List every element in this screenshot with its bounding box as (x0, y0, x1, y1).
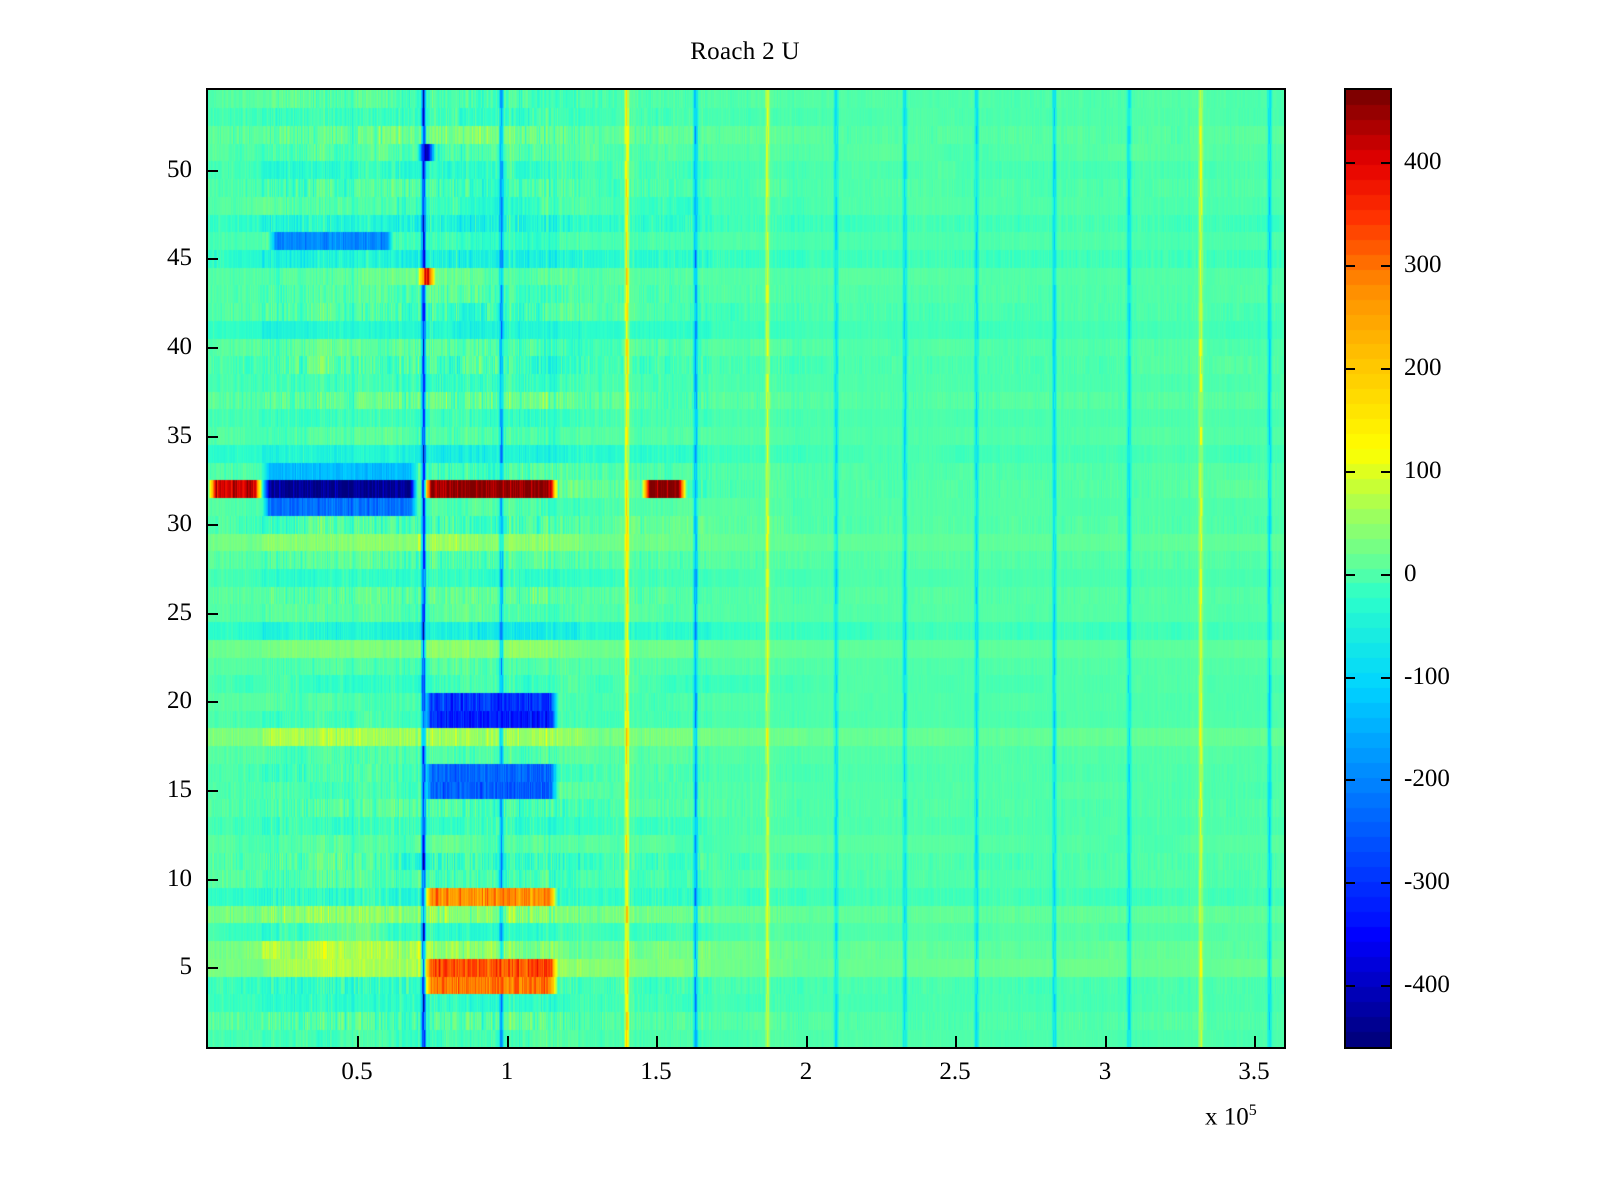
colorbar-tick-label: -300 (1404, 869, 1450, 894)
y-tick-label: 45 (130, 245, 192, 270)
x-exponent-mantissa: x 10 (1205, 1103, 1249, 1130)
colorbar-tick-mark-right (1381, 368, 1390, 370)
colorbar-tick-mark-left (1346, 985, 1355, 987)
colorbar-tick-label: -100 (1404, 664, 1450, 689)
x-tick-mark (507, 1036, 509, 1047)
x-tick-mark (357, 1036, 359, 1047)
colorbar-tick-mark-left (1346, 368, 1355, 370)
x-tick-mark (656, 1036, 658, 1047)
x-tick-label: 3.5 (1194, 1059, 1314, 1084)
colorbar-tick-label: -400 (1404, 972, 1450, 997)
y-tick-label: 5 (130, 954, 192, 979)
colorbar-tick-mark-left (1346, 882, 1355, 884)
colorbar-tick-mark-left (1346, 162, 1355, 164)
colorbar-tick-mark-right (1381, 779, 1390, 781)
y-tick-label: 35 (130, 423, 192, 448)
page-title: Roach 2 U (0, 38, 1490, 66)
x-tick-label: 3 (1045, 1059, 1165, 1084)
colorbar-tick-mark-left (1346, 265, 1355, 267)
y-tick-mark (208, 613, 218, 615)
y-tick-mark (208, 790, 218, 792)
y-tick-label: 30 (130, 511, 192, 536)
heatmap-axes[interactable] (206, 88, 1286, 1049)
y-tick-mark (208, 436, 218, 438)
colorbar-tick-mark-right (1381, 677, 1390, 679)
colorbar-gradient (1346, 90, 1390, 1047)
figure-canvas: Roach 2 U 5101520253035404550 0.511.522.… (0, 0, 1600, 1200)
x-axis-exponent-label: x 105 (1205, 1102, 1257, 1131)
colorbar-tick-mark-right (1381, 265, 1390, 267)
x-tick-mark (955, 1036, 957, 1047)
x-tick-label: 0.5 (297, 1059, 417, 1084)
x-tick-label: 1 (447, 1059, 567, 1084)
y-tick-label: 20 (130, 688, 192, 713)
colorbar-tick-mark-left (1346, 471, 1355, 473)
y-tick-mark (208, 701, 218, 703)
y-tick-label: 50 (130, 157, 192, 182)
colorbar-tick-label: -200 (1404, 766, 1450, 791)
colorbar-tick-label: 200 (1404, 355, 1442, 380)
x-tick-mark (1254, 1036, 1256, 1047)
y-tick-mark (208, 524, 218, 526)
colorbar[interactable] (1344, 88, 1392, 1049)
y-tick-mark (208, 879, 218, 881)
x-tick-label: 1.5 (596, 1059, 716, 1084)
x-tick-label: 2.5 (895, 1059, 1015, 1084)
y-tick-label: 25 (130, 600, 192, 625)
colorbar-tick-mark-left (1346, 677, 1355, 679)
y-tick-mark (208, 967, 218, 969)
colorbar-tick-label: 400 (1404, 149, 1442, 174)
colorbar-tick-mark-right (1381, 882, 1390, 884)
colorbar-tick-label: 0 (1404, 561, 1417, 586)
colorbar-tick-mark-right (1381, 471, 1390, 473)
colorbar-tick-mark-left (1346, 779, 1355, 781)
colorbar-tick-mark-right (1381, 985, 1390, 987)
y-tick-label: 15 (130, 777, 192, 802)
heatmap-image[interactable] (208, 90, 1284, 1047)
y-tick-mark (208, 347, 218, 349)
colorbar-tick-mark-left (1346, 574, 1355, 576)
y-tick-mark (208, 170, 218, 172)
colorbar-tick-label: 300 (1404, 252, 1442, 277)
colorbar-tick-label: 100 (1404, 458, 1442, 483)
y-tick-label: 10 (130, 866, 192, 891)
x-tick-mark (806, 1036, 808, 1047)
y-tick-mark (208, 258, 218, 260)
x-tick-label: 2 (746, 1059, 866, 1084)
x-exponent-power: 5 (1249, 1102, 1257, 1119)
colorbar-tick-mark-right (1381, 574, 1390, 576)
x-tick-mark (1105, 1036, 1107, 1047)
y-tick-label: 40 (130, 334, 192, 359)
colorbar-tick-mark-right (1381, 162, 1390, 164)
